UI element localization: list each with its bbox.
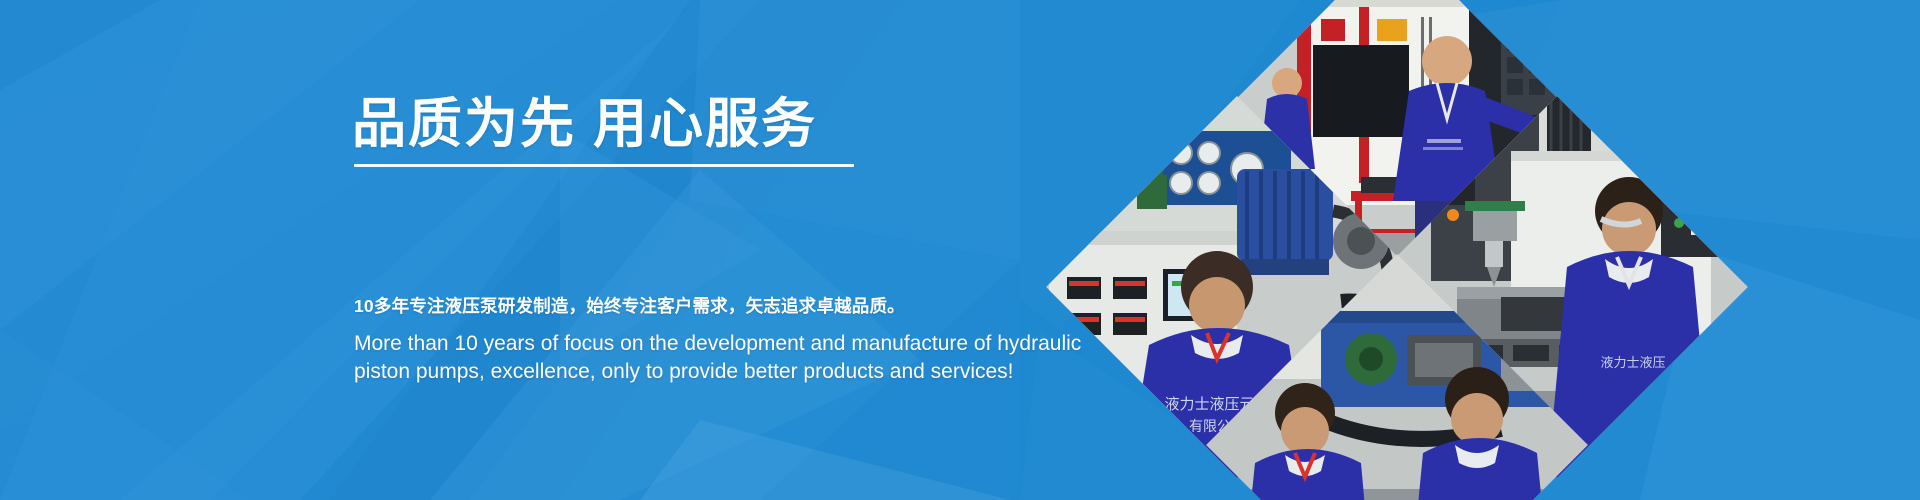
banner-subtitle-english: More than 10 years of focus on the devel… (354, 330, 1129, 386)
factory-photo-collage: 液力士液压元件 有限公司 (1070, 0, 1920, 500)
banner-copy: 品质为先 用心服务 10多年专注液压泵研发制造，始终专注客户需求，矢志追求卓越品… (352, 0, 1192, 500)
banner-subtitle-chinese: 10多年专注液压泵研发制造，始终专注客户需求，矢志追求卓越品质。 (354, 293, 905, 318)
promo-banner: 品质为先 用心服务 10多年专注液压泵研发制造，始终专注客户需求，矢志追求卓越品… (0, 0, 1920, 500)
headline-underline (354, 164, 854, 167)
svg-text:液力士液压: 液力士液压 (1600, 356, 1665, 371)
banner-headline: 品质为先 用心服务 (352, 96, 817, 153)
